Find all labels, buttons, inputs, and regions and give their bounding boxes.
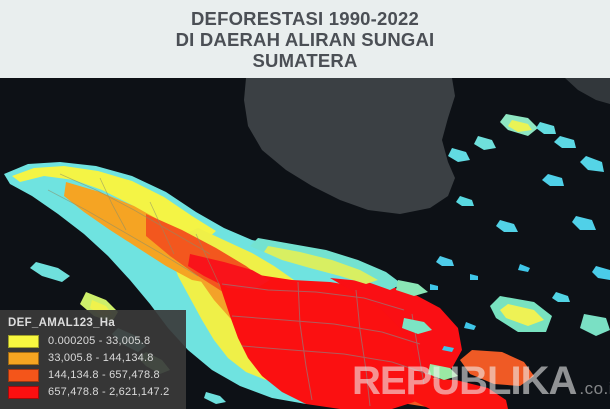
legend-swatch-class2 (8, 352, 39, 365)
legend-label-class2: 33,005.8 - 144,134.8 (48, 352, 154, 364)
legend-title: DEF_AMAL123_Ha (8, 317, 180, 329)
header-banner: DEFORESTASI 1990-2022 DI DAERAH ALIRAN S… (0, 0, 610, 78)
legend-swatch-class3 (8, 369, 39, 382)
legend-item[interactable]: 144,134.8 - 657,478.8 (8, 367, 180, 383)
page-title: DEFORESTASI 1990-2022 DI DAERAH ALIRAN S… (176, 8, 435, 71)
legend-swatch-class1 (8, 335, 39, 348)
legend-swatch-class4 (8, 386, 39, 399)
legend-item[interactable]: 33,005.8 - 144,134.8 (8, 350, 180, 366)
legend-item[interactable]: 0.000205 - 33,005.8 (8, 333, 180, 349)
map-visualization-page: DEFORESTASI 1990-2022 DI DAERAH ALIRAN S… (0, 0, 610, 409)
legend-label-class3: 144,134.8 - 657,478.8 (48, 369, 160, 381)
legend-item[interactable]: 657,478.8 - 2,621,147.2 (8, 384, 180, 400)
legend-label-class4: 657,478.8 - 2,621,147.2 (48, 386, 169, 398)
map-legend[interactable]: DEF_AMAL123_Ha 0.000205 - 33,005.8 33,00… (0, 310, 186, 409)
legend-label-class1: 0.000205 - 33,005.8 (48, 335, 150, 347)
